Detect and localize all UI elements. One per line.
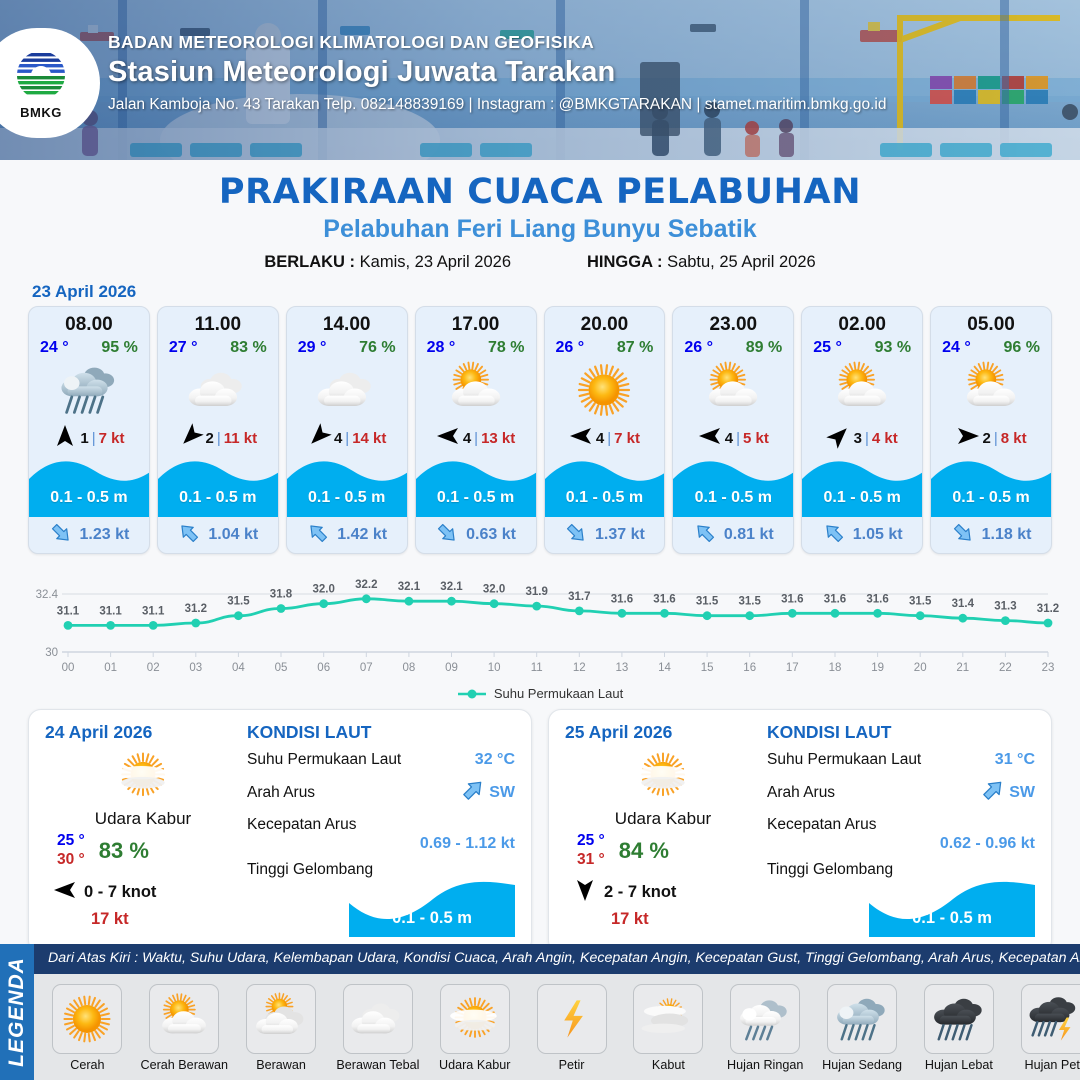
sst-value: 32 °C — [475, 751, 515, 769]
wind-direction-icon — [698, 424, 722, 452]
page-title: PRAKIRAAN CUACA PELABUHAN — [0, 172, 1080, 212]
wind-direction-icon — [436, 424, 460, 452]
wind-direction-icon — [307, 424, 331, 452]
page-subtitle: Pelabuhan Feri Liang Bunyu Sebatik — [0, 215, 1080, 244]
card-gust: 13 kt — [481, 430, 515, 447]
daily-temps: 25 ° 30 ° — [57, 832, 85, 870]
card-humidity: 87 % — [617, 339, 653, 357]
card-current-speed: 1.42 kt — [337, 526, 387, 544]
svg-text:09: 09 — [445, 662, 458, 674]
chart-legend: Suhu Permukaan Laut — [0, 686, 1080, 701]
card-wind: 2 | 8 kt — [931, 423, 1051, 453]
svg-text:05: 05 — [275, 662, 288, 674]
partly-cloudy-icon — [802, 357, 922, 423]
lightning-icon — [537, 984, 607, 1054]
sst-chart: 32.43031.10031.10131.10231.20331.50431.8… — [18, 564, 1062, 684]
header-text-block: BADAN METEOROLOGI KLIMATOLOGI DAN GEOFIS… — [108, 32, 887, 114]
card-wave: 0.1 - 0.5 m — [931, 455, 1051, 517]
sst-label: Suhu Permukaan Laut — [767, 751, 921, 769]
card-wave-height: 0.1 - 0.5 m — [802, 489, 922, 507]
legend-footer: LEGENDA Dari Atas Kiri : Waktu, Suhu Uda… — [0, 944, 1080, 1080]
card-current: 1.42 kt — [287, 517, 407, 553]
svg-text:21: 21 — [956, 662, 969, 674]
card-wind-speed: 2 — [983, 430, 991, 447]
daily-wind: 2 - 7 knot — [565, 878, 761, 907]
svg-text:14: 14 — [658, 662, 671, 674]
legend-item: Hujan Petir — [1008, 984, 1080, 1072]
legend-item-label: Hujan Ringan — [727, 1058, 803, 1072]
legend-note: Dari Atas Kiri : Waktu, Suhu Udara, Kele… — [34, 944, 1080, 974]
svg-text:32.1: 32.1 — [398, 581, 421, 593]
daily-wind-range: 0 - 7 knot — [84, 883, 156, 902]
svg-text:31.6: 31.6 — [781, 593, 803, 605]
wind-direction-icon — [53, 424, 77, 452]
card-current: 0.63 kt — [416, 517, 536, 553]
svg-text:22: 22 — [999, 662, 1012, 674]
card-temp-hum: 27 ° 83 % — [158, 336, 278, 357]
svg-text:23: 23 — [1042, 662, 1055, 674]
daily-panel: 25 April 2026 Udara Kabur 25 ° 31 ° 84 %… — [548, 709, 1052, 953]
haze-icon — [440, 984, 510, 1054]
hourly-card: 08.00 24 ° 95 % 1 | 7 kt 0.1 - 0.5 m — [28, 306, 150, 554]
card-wind: 4 | 7 kt — [545, 423, 665, 453]
card-wind: 1 | 7 kt — [29, 423, 149, 453]
sst-label: Suhu Permukaan Laut — [247, 751, 401, 769]
haze-icon — [565, 745, 761, 807]
daily-sea-conditions: KONDISI LAUT Suhu Permukaan Laut 31 °C A… — [761, 722, 1035, 938]
card-time: 11.00 — [158, 307, 278, 336]
hourly-card: 17.00 28 ° 78 % 4 | 13 kt 0.1 - 0.5 m 0.… — [415, 306, 537, 554]
svg-text:06: 06 — [317, 662, 330, 674]
svg-text:01: 01 — [104, 662, 117, 674]
svg-text:31.4: 31.4 — [952, 598, 975, 610]
chart-legend-label: Suhu Permukaan Laut — [494, 686, 623, 701]
svg-text:31.6: 31.6 — [866, 593, 888, 605]
card-current-speed: 0.63 kt — [466, 526, 516, 544]
card-wave: 0.1 - 0.5 m — [545, 455, 665, 517]
card-wave: 0.1 - 0.5 m — [416, 455, 536, 517]
svg-text:20: 20 — [914, 662, 927, 674]
partly-cloudy-icon — [149, 984, 219, 1054]
card-wind: 2 | 11 kt — [158, 423, 278, 453]
infographic-page: BMKG BADAN METEOROLOGI KLIMATOLOGI DAN G… — [0, 0, 1080, 1080]
wind-separator: | — [474, 430, 478, 447]
current-direction-label: Arah Arus — [767, 784, 835, 802]
svg-text:31.5: 31.5 — [227, 596, 250, 608]
daily-gust: 17 kt — [565, 910, 761, 929]
current-direction-row: Arah Arus SW — [767, 777, 1035, 808]
daily-humidity: 83 % — [99, 838, 149, 864]
daily-condition: Udara Kabur — [45, 809, 241, 829]
card-gust: 7 kt — [614, 430, 640, 447]
current-direction-icon — [435, 521, 459, 550]
legend-item-label: Kabut — [652, 1058, 685, 1072]
card-current-speed: 1.05 kt — [853, 526, 903, 544]
wave-height-label: Tinggi Gelombang — [247, 861, 373, 879]
legend-item-label: Berawan — [256, 1058, 306, 1072]
current-direction-icon — [951, 521, 975, 550]
daily-wave-graphic: 0.1 - 0.5 m — [247, 881, 515, 937]
daily-left: 24 April 2026 Udara Kabur 25 ° 30 ° 83 %… — [45, 722, 241, 938]
svg-text:10: 10 — [488, 662, 501, 674]
hourly-card: 02.00 25 ° 93 % 3 | 4 kt 0.1 - 0.5 m 1.0… — [801, 306, 923, 554]
svg-text:31.6: 31.6 — [824, 593, 846, 605]
valid-to-value: Sabtu, 25 April 2026 — [667, 253, 816, 271]
card-wind-speed: 3 — [854, 430, 862, 447]
daily-condition: Udara Kabur — [565, 809, 761, 829]
wind-direction-icon — [179, 424, 203, 452]
card-humidity: 78 % — [488, 339, 524, 357]
daily-date: 25 April 2026 — [565, 722, 761, 743]
wind-separator: | — [736, 430, 740, 447]
header-banner: BMKG BADAN METEOROLOGI KLIMATOLOGI DAN G… — [0, 0, 1080, 160]
wave-height-row: Tinggi Gelombang — [767, 861, 1035, 879]
svg-text:15: 15 — [701, 662, 714, 674]
partly-cloudy-icon — [931, 357, 1051, 423]
card-wave: 0.1 - 0.5 m — [802, 455, 922, 517]
card-wind-speed: 4 — [463, 430, 471, 447]
card-time: 05.00 — [931, 307, 1051, 336]
wind-separator: | — [607, 430, 611, 447]
legend-item-label: Hujan Lebat — [925, 1058, 993, 1072]
mostly-cloudy-icon — [246, 984, 316, 1054]
svg-text:31.5: 31.5 — [739, 596, 762, 608]
daily-gust: 17 kt — [45, 910, 241, 929]
legend-item: Cerah Berawan — [137, 984, 232, 1072]
wave-height-row: Tinggi Gelombang — [247, 861, 515, 879]
daily-temp-max: 31 ° — [577, 851, 605, 870]
legend-item: Hujan Sedang — [815, 984, 910, 1072]
card-wind-speed: 4 — [725, 430, 733, 447]
card-gust: 8 kt — [1001, 430, 1027, 447]
legend-item-label: Udara Kabur — [439, 1058, 510, 1072]
current-direction-icon — [49, 521, 73, 550]
svg-text:32.0: 32.0 — [313, 584, 335, 596]
validity-row: BERLAKU : Kamis, 23 April 2026 HINGGA : … — [0, 253, 1080, 272]
wind-direction-icon — [827, 424, 851, 452]
card-current-speed: 1.23 kt — [80, 526, 130, 544]
card-current: 1.04 kt — [158, 517, 278, 553]
title-block: PRAKIRAAN CUACA PELABUHAN Pelabuhan Feri… — [0, 160, 1080, 272]
daily-wind: 0 - 7 knot — [45, 878, 241, 907]
svg-text:32.1: 32.1 — [440, 581, 463, 593]
svg-text:32.4: 32.4 — [36, 589, 59, 601]
daily-forecast-panels: 24 April 2026 Udara Kabur 25 ° 30 ° 83 %… — [0, 701, 1080, 953]
haze-icon — [45, 745, 241, 807]
svg-text:17: 17 — [786, 662, 799, 674]
svg-text:16: 16 — [743, 662, 756, 674]
wind-direction-icon — [573, 878, 597, 907]
card-temperature: 29 ° — [298, 339, 327, 357]
current-direction-icon — [693, 521, 717, 550]
svg-text:31.1: 31.1 — [57, 605, 80, 617]
card-wind: 4 | 5 kt — [673, 423, 793, 453]
card-temperature: 24 ° — [942, 339, 971, 357]
wind-separator: | — [92, 430, 96, 447]
legend-item: Udara Kabur — [427, 984, 522, 1072]
legend-item: Berawan — [234, 984, 329, 1072]
legend-main: Dari Atas Kiri : Waktu, Suhu Udara, Kele… — [34, 944, 1080, 1080]
card-current-speed: 0.81 kt — [724, 526, 774, 544]
current-direction-row: Arah Arus SW — [247, 777, 515, 808]
card-temp-hum: 24 ° 95 % — [29, 336, 149, 357]
card-gust: 4 kt — [872, 430, 898, 447]
wave-height-label: Tinggi Gelombang — [767, 861, 893, 879]
sunny-icon — [545, 357, 665, 423]
sunny-icon — [52, 984, 122, 1054]
card-wind-speed: 4 — [596, 430, 604, 447]
current-speed-row: Kecepatan Arus — [247, 816, 515, 834]
daily-humidity: 84 % — [619, 838, 669, 864]
current-speed-label: Kecepatan Arus — [247, 816, 356, 834]
legend-item: Hujan Lebat — [911, 984, 1006, 1072]
sst-value: 31 °C — [995, 751, 1035, 769]
svg-text:11: 11 — [531, 662, 543, 674]
card-wave-height: 0.1 - 0.5 m — [416, 489, 536, 507]
card-wave: 0.1 - 0.5 m — [158, 455, 278, 517]
svg-text:31.1: 31.1 — [99, 605, 122, 617]
card-wave: 0.1 - 0.5 m — [673, 455, 793, 517]
hourly-card: 20.00 26 ° 87 % 4 | 7 kt 0.1 - 0.5 m 1.3… — [544, 306, 666, 554]
daily-temp-hum: 25 ° 30 ° 83 % — [45, 832, 241, 870]
svg-text:31.5: 31.5 — [909, 596, 932, 608]
wind-direction-icon — [956, 424, 980, 452]
legend-item-label: Berawan Tebal — [336, 1058, 419, 1072]
daily-panel: 24 April 2026 Udara Kabur 25 ° 30 ° 83 %… — [28, 709, 532, 953]
legend-item: Petir — [524, 984, 619, 1072]
daily-temp-min: 25 ° — [57, 832, 85, 851]
legend-item-label: Cerah — [70, 1058, 104, 1072]
card-humidity: 83 % — [230, 339, 266, 357]
card-wave: 0.1 - 0.5 m — [29, 455, 149, 517]
cloudy-icon — [343, 984, 413, 1054]
current-direction-label: Arah Arus — [247, 784, 315, 802]
sst-chart-svg: 32.43031.10031.10131.10231.20331.50431.8… — [18, 564, 1062, 684]
cloudy-icon — [287, 357, 407, 423]
legend-item-label: Hujan Sedang — [822, 1058, 902, 1072]
card-wind: 3 | 4 kt — [802, 423, 922, 453]
card-temperature: 26 ° — [684, 339, 713, 357]
wind-direction-icon — [569, 424, 593, 452]
current-direction-icon — [460, 777, 486, 808]
card-time: 14.00 — [287, 307, 407, 336]
legend-item: Hujan Ringan — [718, 984, 813, 1072]
daily-left: 25 April 2026 Udara Kabur 25 ° 31 ° 84 %… — [565, 722, 761, 938]
card-time: 08.00 — [29, 307, 149, 336]
card-wind-speed: 2 — [206, 430, 214, 447]
valid-from: BERLAKU : Kamis, 23 April 2026 — [264, 253, 511, 272]
card-wind: 4 | 13 kt — [416, 423, 536, 453]
card-wave-height: 0.1 - 0.5 m — [545, 489, 665, 507]
wind-direction-icon — [53, 878, 77, 907]
card-wave-height: 0.1 - 0.5 m — [673, 489, 793, 507]
svg-text:02: 02 — [147, 662, 160, 674]
bmkg-logo-icon — [13, 47, 69, 103]
current-direction-icon — [564, 521, 588, 550]
current-speed-value: 0.62 - 0.96 kt — [767, 835, 1035, 853]
svg-text:03: 03 — [189, 662, 202, 674]
card-temperature: 26 ° — [556, 339, 585, 357]
hourly-date-label: 23 April 2026 — [32, 282, 1080, 302]
card-temperature: 24 ° — [40, 339, 69, 357]
svg-text:31.6: 31.6 — [611, 593, 633, 605]
svg-text:19: 19 — [871, 662, 884, 674]
wind-separator: | — [865, 430, 869, 447]
svg-text:12: 12 — [573, 662, 586, 674]
current-speed-row: Kecepatan Arus — [767, 816, 1035, 834]
bmkg-logo-label: BMKG — [20, 105, 62, 120]
daily-temps: 25 ° 31 ° — [577, 832, 605, 870]
legend-side-label: LEGENDA — [5, 957, 29, 1067]
daily-temp-max: 30 ° — [57, 851, 85, 870]
card-current: 1.05 kt — [802, 517, 922, 553]
cloudy-icon — [158, 357, 278, 423]
contact-info: Jalan Kamboja No. 43 Tarakan Telp. 08214… — [108, 96, 887, 114]
daily-wave-graphic: 0.1 - 0.5 m — [767, 881, 1035, 937]
card-humidity: 76 % — [359, 339, 395, 357]
card-current-speed: 1.37 kt — [595, 526, 645, 544]
svg-text:31.6: 31.6 — [653, 593, 675, 605]
rain-moderate-icon — [29, 357, 149, 423]
card-temp-hum: 29 ° 76 % — [287, 336, 407, 357]
sea-section-title: KONDISI LAUT — [767, 722, 1035, 743]
card-wave-height: 0.1 - 0.5 m — [931, 489, 1051, 507]
svg-text:31.8: 31.8 — [270, 589, 293, 601]
daily-wave-value: 0.1 - 0.5 m — [877, 909, 1027, 928]
legend-item-label: Hujan Petir — [1025, 1058, 1080, 1072]
svg-text:32.2: 32.2 — [355, 579, 377, 591]
wind-separator: | — [345, 430, 349, 447]
valid-to: HINGGA : Sabtu, 25 April 2026 — [587, 253, 816, 272]
card-gust: 14 kt — [352, 430, 386, 447]
card-gust: 7 kt — [99, 430, 125, 447]
station-name: Stasiun Meteorologi Juwata Tarakan — [108, 56, 887, 89]
svg-text:31.9: 31.9 — [526, 586, 548, 598]
valid-from-value: Kamis, 23 April 2026 — [360, 253, 511, 271]
card-gust: 5 kt — [743, 430, 769, 447]
svg-text:13: 13 — [616, 662, 629, 674]
card-humidity: 93 % — [875, 339, 911, 357]
sea-section-title: KONDISI LAUT — [247, 722, 515, 743]
chart-legend-marker — [457, 688, 487, 700]
card-humidity: 95 % — [101, 339, 137, 357]
hourly-card: 11.00 27 ° 83 % 2 | 11 kt 0.1 - 0.5 m — [157, 306, 279, 554]
card-temp-hum: 28 ° 78 % — [416, 336, 536, 357]
card-wave-height: 0.1 - 0.5 m — [29, 489, 149, 507]
card-wave: 0.1 - 0.5 m — [287, 455, 407, 517]
hourly-card: 14.00 29 ° 76 % 4 | 14 kt 0.1 - 0.5 m — [286, 306, 408, 554]
wind-separator: | — [217, 430, 221, 447]
card-temperature: 28 ° — [427, 339, 456, 357]
hourly-card: 05.00 24 ° 96 % 2 | 8 kt 0.1 - 0.5 m 1.1… — [930, 306, 1052, 554]
daily-date: 24 April 2026 — [45, 722, 241, 743]
sst-row: Suhu Permukaan Laut 32 °C — [247, 751, 515, 769]
card-humidity: 89 % — [746, 339, 782, 357]
rain-heavy-icon — [924, 984, 994, 1054]
card-time: 23.00 — [673, 307, 793, 336]
partly-cloudy-icon — [416, 357, 536, 423]
card-humidity: 96 % — [1004, 339, 1040, 357]
card-gust: 11 kt — [224, 430, 257, 447]
card-time: 17.00 — [416, 307, 536, 336]
rain-moderate-icon — [827, 984, 897, 1054]
card-wind-speed: 4 — [334, 430, 342, 447]
current-direction-icon — [980, 777, 1006, 808]
svg-text:31.3: 31.3 — [994, 601, 1016, 613]
legend-item: Kabut — [621, 984, 716, 1072]
wind-separator: | — [994, 430, 998, 447]
card-current: 0.81 kt — [673, 517, 793, 553]
valid-from-label: BERLAKU : — [264, 253, 355, 271]
svg-text:08: 08 — [403, 662, 416, 674]
card-wind-speed: 1 — [80, 430, 88, 447]
card-current: 1.37 kt — [545, 517, 665, 553]
svg-text:31.1: 31.1 — [142, 605, 165, 617]
card-current-speed: 1.04 kt — [208, 526, 258, 544]
current-direction-icon — [822, 521, 846, 550]
legend-item: Berawan Tebal — [330, 984, 425, 1072]
sst-row: Suhu Permukaan Laut 31 °C — [767, 751, 1035, 769]
card-wave-height: 0.1 - 0.5 m — [287, 489, 407, 507]
card-current-speed: 1.18 kt — [982, 526, 1032, 544]
current-direction-icon — [306, 521, 330, 550]
svg-text:31.2: 31.2 — [185, 603, 207, 615]
svg-text:04: 04 — [232, 662, 245, 674]
card-current: 1.23 kt — [29, 517, 149, 553]
current-direction-value-wrap: SW — [980, 777, 1035, 808]
svg-text:30: 30 — [45, 647, 58, 659]
card-temperature: 25 ° — [813, 339, 842, 357]
card-time: 02.00 — [802, 307, 922, 336]
partly-cloudy-icon — [673, 357, 793, 423]
daily-wave-value: 0.1 - 0.5 m — [357, 909, 507, 928]
current-direction-icon — [177, 521, 201, 550]
legend-item-label: Petir — [559, 1058, 585, 1072]
legend-side-bar: LEGENDA — [0, 944, 34, 1080]
svg-text:31.5: 31.5 — [696, 596, 719, 608]
current-direction-value: SW — [1009, 784, 1035, 802]
fog-icon — [633, 984, 703, 1054]
card-time: 20.00 — [545, 307, 665, 336]
svg-text:18: 18 — [829, 662, 842, 674]
svg-text:31.7: 31.7 — [568, 591, 590, 603]
valid-to-label: HINGGA : — [587, 253, 662, 271]
card-temp-hum: 26 ° 89 % — [673, 336, 793, 357]
card-temp-hum: 25 ° 93 % — [802, 336, 922, 357]
card-wave-height: 0.1 - 0.5 m — [158, 489, 278, 507]
hourly-card: 23.00 26 ° 89 % 4 | 5 kt 0.1 - 0.5 m 0.8… — [672, 306, 794, 554]
daily-wind-range: 2 - 7 knot — [604, 883, 676, 902]
current-direction-value-wrap: SW — [460, 777, 515, 808]
svg-text:07: 07 — [360, 662, 373, 674]
card-temp-hum: 26 ° 87 % — [545, 336, 665, 357]
legend-item-label: Cerah Berawan — [140, 1058, 228, 1072]
svg-text:32.0: 32.0 — [483, 584, 505, 596]
card-temperature: 27 ° — [169, 339, 198, 357]
daily-temp-hum: 25 ° 31 ° 84 % — [565, 832, 761, 870]
card-temp-hum: 24 ° 96 % — [931, 336, 1051, 357]
card-current: 1.18 kt — [931, 517, 1051, 553]
legend-item: Cerah — [40, 984, 135, 1072]
svg-text:31.2: 31.2 — [1037, 603, 1059, 615]
current-speed-label: Kecepatan Arus — [767, 816, 876, 834]
daily-temp-min: 25 ° — [577, 832, 605, 851]
current-speed-value: 0.69 - 1.12 kt — [247, 835, 515, 853]
svg-text:00: 00 — [62, 662, 75, 674]
card-wind: 4 | 14 kt — [287, 423, 407, 453]
hourly-forecast-row: 08.00 24 ° 95 % 1 | 7 kt 0.1 - 0.5 m — [0, 306, 1080, 554]
daily-sea-conditions: KONDISI LAUT Suhu Permukaan Laut 32 °C A… — [241, 722, 515, 938]
